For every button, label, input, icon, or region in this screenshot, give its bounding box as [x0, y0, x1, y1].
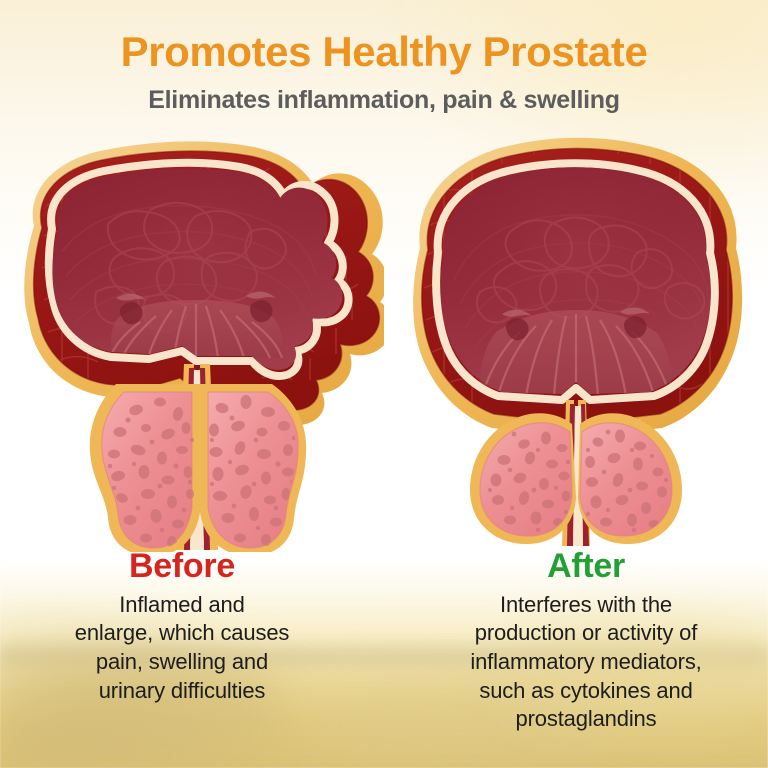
prostate-lobe-right-enlarged [200, 384, 306, 552]
figure-before-enlarged-prostate [0, 132, 384, 552]
after-description-line: production or activity of [394, 619, 768, 648]
prostate-lobe-left-enlarged [90, 384, 200, 552]
before-description-line: pain, swelling and [0, 648, 374, 677]
after-heading: After [394, 548, 768, 585]
after-description-line: such as cytokines and [394, 677, 768, 706]
bladder-lumen [52, 169, 342, 370]
after-description: Interferes with the production or activi… [394, 591, 768, 734]
bladder-lumen [441, 167, 711, 396]
prostate-lobe-left-normal [470, 413, 576, 544]
page-subtitle: Eliminates inflammation, pain & swelling [0, 86, 768, 115]
caption-column-after: After Interferes with the production or … [394, 548, 768, 734]
before-heading: Before [0, 548, 374, 585]
figure-after-healthy-prostate [384, 132, 768, 552]
after-description-line: Interferes with the [394, 591, 768, 620]
prostate-lobe-right-normal [578, 413, 682, 544]
page-title: Promotes Healthy Prostate [0, 28, 768, 76]
figures-row [0, 132, 768, 552]
before-description-line: enlarge, which causes [0, 619, 374, 648]
after-description-line: inflammatory mediators, [394, 648, 768, 677]
caption-column-before: Before Inflamed and enlarge, which cause… [0, 548, 374, 705]
after-description-line: prostaglandins [394, 705, 768, 734]
before-description-line: Inflamed and [0, 591, 374, 620]
before-description-line: urinary difficulties [0, 677, 374, 706]
before-description: Inflamed and enlarge, which causes pain,… [0, 591, 374, 705]
